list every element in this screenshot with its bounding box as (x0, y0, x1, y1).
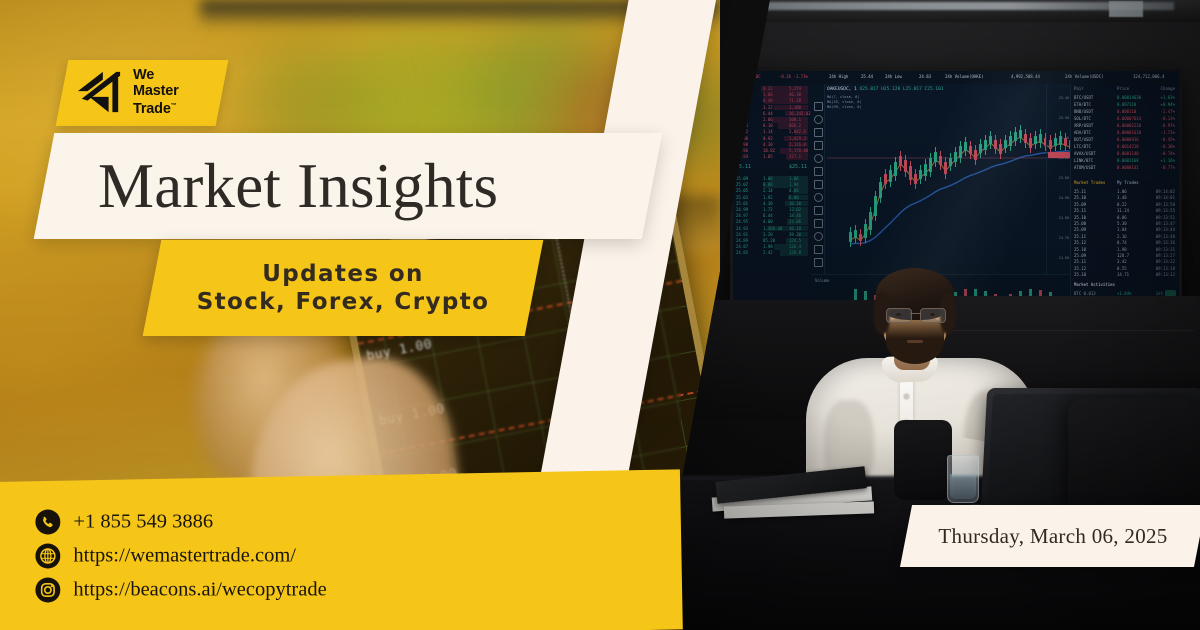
poster-canvas: buy 1.00buy 1.00buy 1.00buy 1.00buy 1.00… (0, 0, 1200, 630)
contact-list: +1 855 549 3886https://wemastertrade.com… (35, 505, 326, 607)
subtitle-line-1: Updates on (262, 260, 424, 288)
logo-line-2: Master (133, 84, 179, 100)
date-banner: Thursday, March 06, 2025 (900, 505, 1200, 567)
instagram-icon (35, 577, 60, 602)
phone-icon (35, 509, 60, 534)
subtitle-banner: Updates on Stock, Forex, Crypto (143, 240, 544, 336)
contact-text: https://beacons.ai/wecopytrade (73, 578, 326, 601)
logo-trademark: ™ (171, 103, 177, 109)
title-banner: Market Insights (34, 133, 663, 239)
date-text: Thursday, March 06, 2025 (938, 524, 1167, 549)
page-title: Market Insights (98, 150, 498, 223)
contact-text: +1 855 549 3886 (73, 510, 213, 533)
subtitle-line-2: Stock, Forex, Crypto (197, 288, 490, 316)
globe-icon (35, 543, 60, 568)
contact-text: https://wemastertrade.com/ (73, 544, 296, 567)
logo-line-3-wrap: Trade™ (133, 99, 179, 117)
logo-chevron-arrow-icon (74, 70, 124, 116)
logo-wordmark: We Master Trade™ (133, 68, 179, 117)
brand-logo[interactable]: We Master Trade™ (56, 60, 229, 126)
logo-line-1: We (133, 68, 179, 84)
contact-band: +1 855 549 3886https://wemastertrade.com… (0, 469, 683, 630)
logo-line-3: Trade (133, 101, 171, 117)
contact-row[interactable]: +1 855 549 3886 (35, 505, 326, 539)
contact-row[interactable]: https://wemastertrade.com/ (35, 539, 326, 573)
contact-row[interactable]: https://beacons.ai/wecopytrade (35, 573, 326, 607)
